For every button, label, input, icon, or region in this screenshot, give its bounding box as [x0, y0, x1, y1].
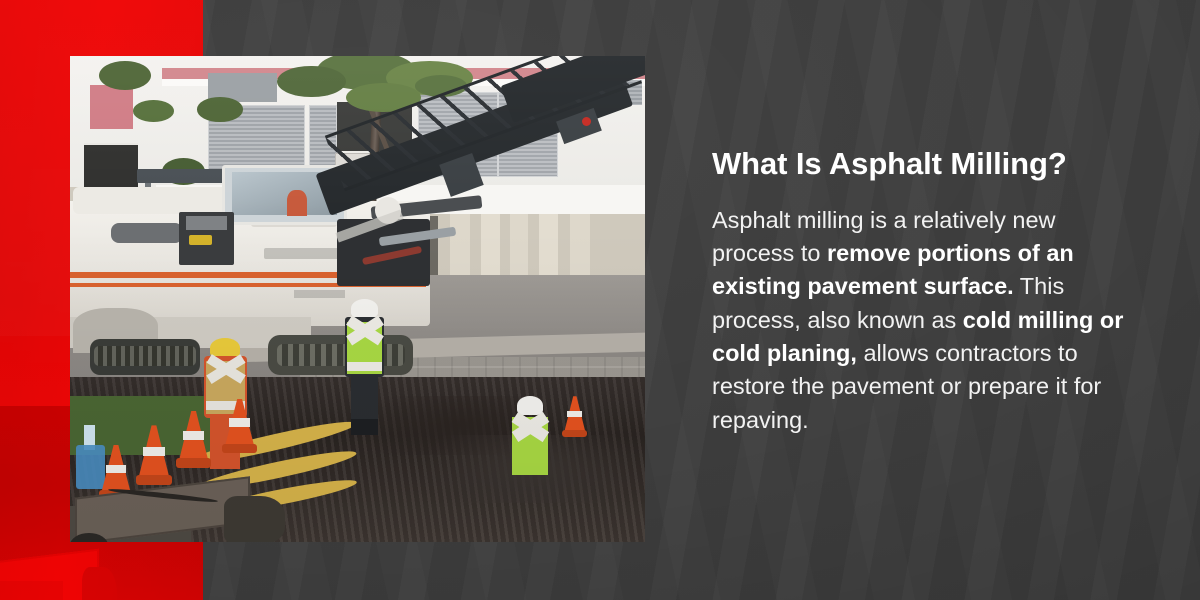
page-title: What Is Asphalt Milling? — [712, 146, 1132, 182]
body-paragraph: Asphalt milling is a relatively new proc… — [712, 204, 1132, 438]
text-column: What Is Asphalt Milling? Asphalt milling… — [712, 146, 1132, 437]
infographic-stage: What Is Asphalt Milling? Asphalt milling… — [0, 0, 1200, 600]
asphalt-milling-photo — [70, 56, 645, 542]
photo-color-grade — [70, 56, 645, 542]
